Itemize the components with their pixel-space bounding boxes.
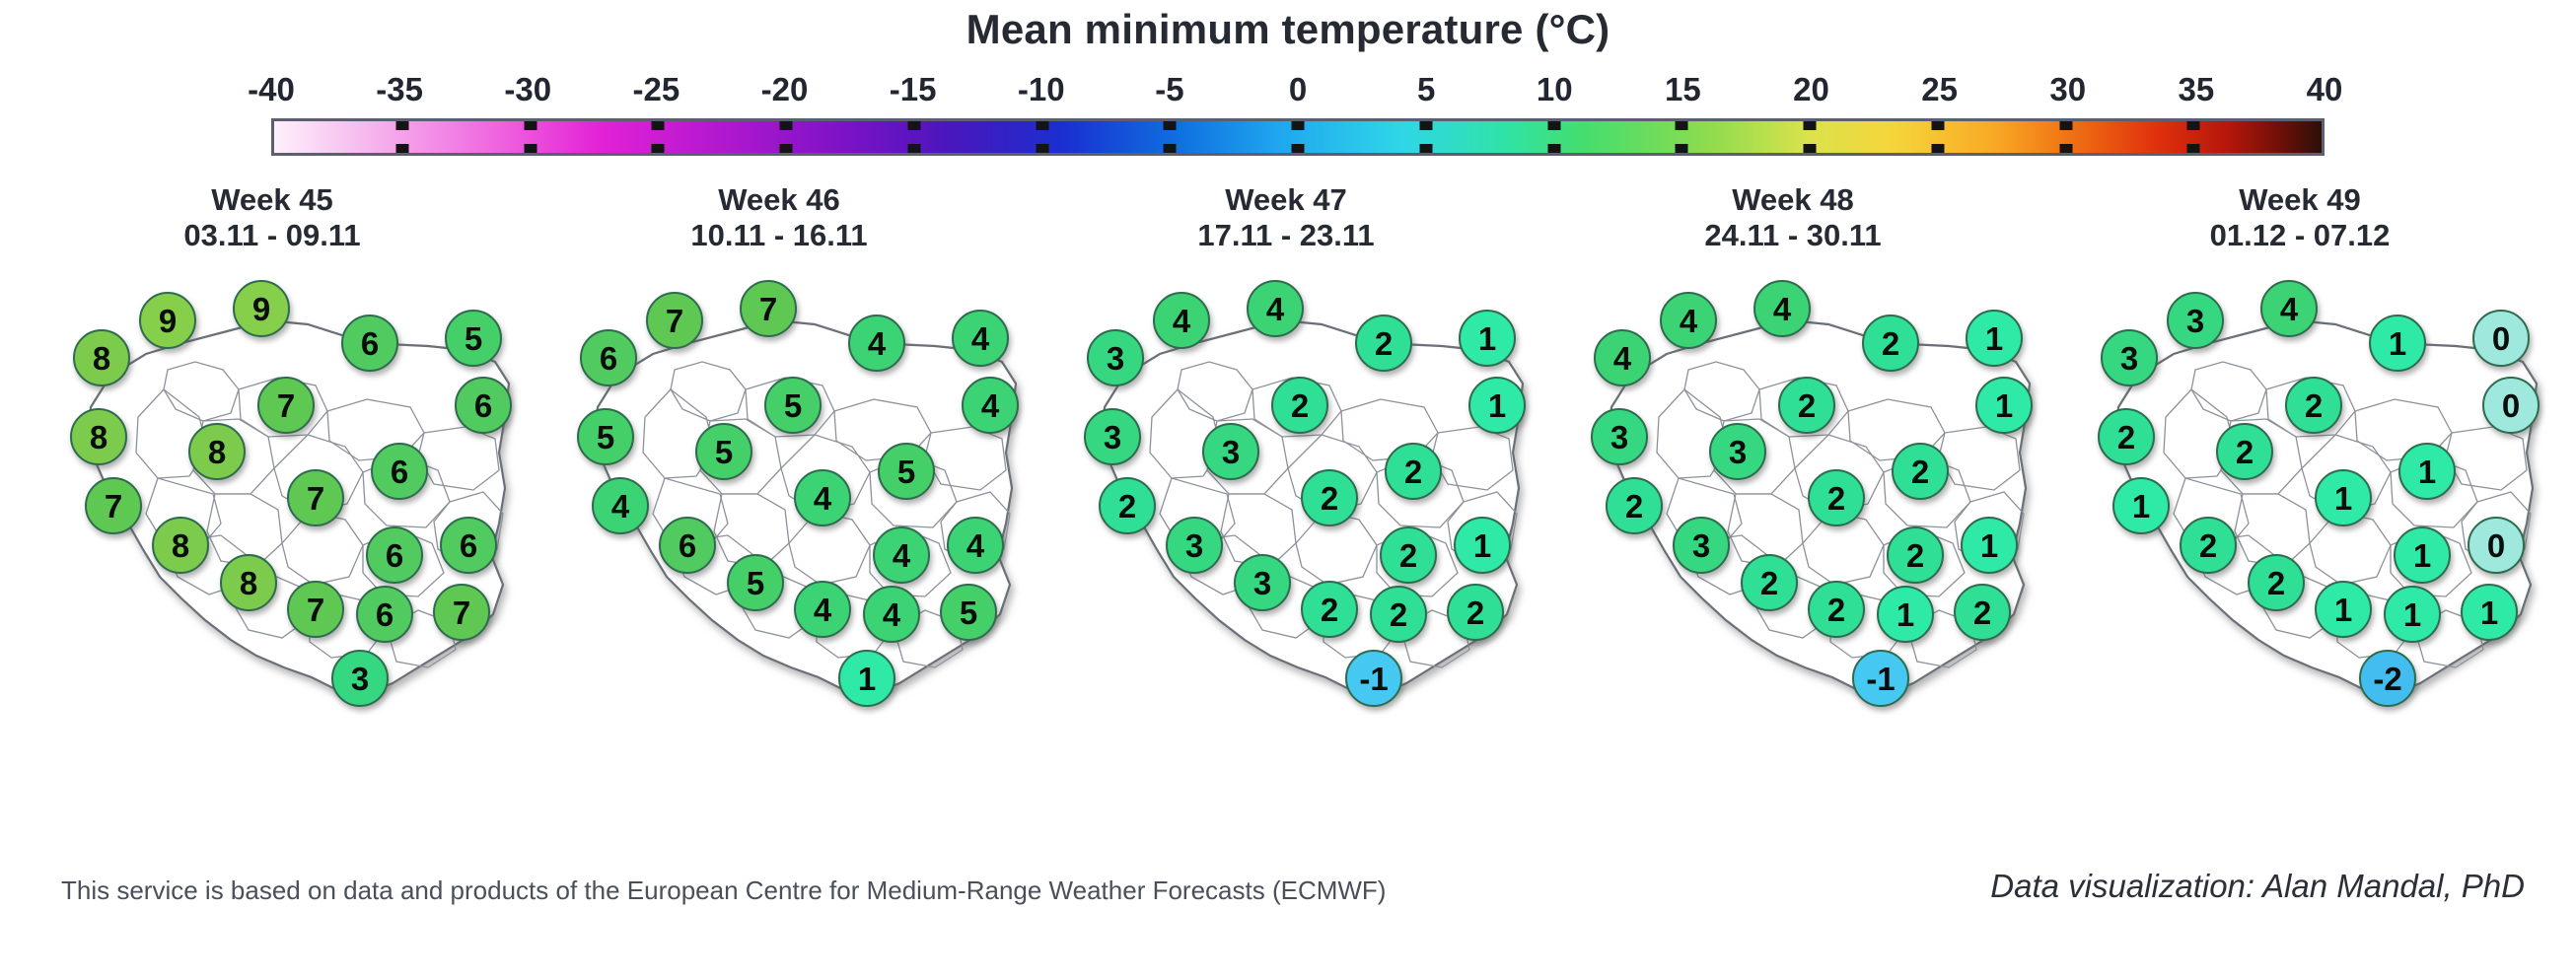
colorbar-tick-labels: -40-35-30-25-20-15-10-50510152025303540 — [271, 71, 2325, 114]
week-panel-3: Week 4717.11 - 23.113442113322223322122-… — [1034, 182, 1538, 863]
panel-date-range: 10.11 - 16.11 — [527, 218, 1032, 253]
panel-date-range: 17.11 - 23.11 — [1034, 218, 1538, 253]
temperature-marker-malopolska-s: 1 — [838, 650, 895, 707]
colorbar-segment-tick — [1292, 121, 1305, 130]
temperature-marker-slaskie: 1 — [2315, 581, 2372, 638]
colorbar-segment-tick — [1292, 144, 1305, 153]
temperature-marker-lubuskie-s: 2 — [1606, 477, 1663, 534]
temperature-marker-opolskie: 2 — [1741, 554, 1798, 611]
temperature-marker-lubuskie-s: 7 — [85, 477, 142, 534]
temperature-marker-podlaskie-n: 1 — [1966, 310, 2023, 367]
temperature-marker-warminsko-mazurskie: 4 — [848, 315, 905, 372]
temperature-marker-pomorskie-e: 4 — [1753, 280, 1811, 337]
colorbar-segment-tick — [1547, 144, 1560, 153]
temperature-marker-lodzkie: 2 — [1385, 443, 1442, 500]
temperature-marker-lubelskie: 4 — [873, 526, 930, 584]
temperature-marker-opolskie: 2 — [2248, 554, 2305, 611]
temperature-marker-wielkopolskie-w: 3 — [1202, 423, 1259, 480]
temperature-marker-pomorskie-w: 4 — [1660, 292, 1717, 349]
colorbar-tick-1: -35 — [376, 71, 423, 108]
panel-date-range: 24.11 - 30.11 — [1540, 218, 2045, 253]
colorbar-tick-7: -5 — [1155, 71, 1183, 108]
data-source-note: This service is based on data and produc… — [61, 875, 1386, 906]
page-title: Mean minimum temperature (°C) — [0, 6, 2576, 53]
colorbar-segment-tick — [1931, 121, 1944, 130]
temperature-marker-dolnoslaskie: 2 — [2180, 517, 2237, 574]
poland-map: 67744455544565444451 — [527, 259, 1032, 851]
poland-map: 3442113322223322122-1 — [1034, 259, 1538, 851]
panel-week-label: Week 46 — [527, 182, 1032, 218]
temperature-marker-mazowieckie: 2 — [1808, 469, 1865, 526]
temperature-marker-kujawsko-pomorskie: 2 — [2285, 377, 2342, 434]
temperature-marker-warminsko-mazurskie: 2 — [1862, 315, 1919, 372]
temperature-marker-slaskie: 7 — [287, 581, 344, 638]
temperature-marker-podlaskie-n: 5 — [445, 310, 502, 367]
temperature-marker-lubelskie: 2 — [1887, 526, 1944, 584]
temperature-marker-lodzkie: 6 — [371, 443, 428, 500]
temperature-marker-pomorskie-e: 4 — [2260, 280, 2318, 337]
colorbar-segment-tick — [2187, 121, 2200, 130]
temperature-marker-malopolska-s: 3 — [331, 650, 389, 707]
temperature-marker-zachodniopomorskie-n: 3 — [1087, 329, 1144, 386]
temperature-marker-dolnoslaskie: 8 — [152, 517, 209, 574]
temperature-marker-zachodniopomorskie-n: 6 — [580, 329, 637, 386]
week-panel-5: Week 4901.12 - 07.123341002221112211011-… — [2047, 182, 2552, 863]
poland-map: 3341002221112211011-2 — [2047, 259, 2552, 851]
temperature-marker-podkarpackie: 6 — [440, 517, 497, 574]
temperature-marker-dolnoslaskie: 6 — [659, 517, 716, 574]
colorbar: -40-35-30-25-20-15-10-50510152025303540 — [271, 71, 2325, 165]
temperature-marker-swietokrzyskie: 6 — [356, 586, 413, 643]
temperature-marker-zachodniopomorskie-n: 4 — [1594, 329, 1651, 386]
visualization-root: Mean minimum temperature (°C) -40-35-30-… — [0, 0, 2576, 980]
temperature-marker-slaskie: 2 — [1301, 581, 1358, 638]
colorbar-segment-tick — [1676, 121, 1688, 130]
temperature-marker-pomorskie-w: 9 — [139, 292, 196, 349]
colorbar-segment-tick — [1419, 144, 1432, 153]
colorbar-gradient — [271, 118, 2325, 156]
temperature-marker-swietokrzyskie: 1 — [2384, 586, 2441, 643]
temperature-marker-warminsko-mazurskie: 1 — [2369, 315, 2426, 372]
week-panel-2: Week 4610.11 - 16.1167744455544565444451 — [527, 182, 1032, 863]
temperature-marker-podkarpackie: 1 — [1454, 517, 1511, 574]
temperature-marker-podlaskie-s: 0 — [2482, 377, 2540, 434]
colorbar-segment-tick — [652, 144, 665, 153]
temperature-marker-pomorskie-w: 3 — [2167, 292, 2224, 349]
temperature-marker-pomorskie-e: 4 — [1247, 280, 1304, 337]
temperature-marker-lubuskie-n: 3 — [1591, 408, 1648, 465]
temperature-marker-wielkopolskie-w: 2 — [2216, 423, 2273, 480]
temperature-marker-lubuskie-n: 5 — [577, 408, 634, 465]
temperature-marker-mazowieckie: 4 — [794, 469, 851, 526]
temperature-marker-warminsko-mazurskie: 6 — [341, 315, 398, 372]
temperature-marker-lubelskie: 6 — [366, 526, 423, 584]
colorbar-segment-tick — [1036, 121, 1048, 130]
colorbar-segment-tick — [524, 121, 537, 130]
temperature-marker-swietokrzyskie: 2 — [1370, 586, 1427, 643]
temperature-marker-malopolska-s: -1 — [1345, 650, 1402, 707]
colorbar-tick-5: -15 — [890, 71, 937, 108]
temperature-marker-malopolska-e: 1 — [2461, 584, 2518, 641]
temperature-marker-lubuskie-n: 8 — [70, 408, 127, 465]
colorbar-segment-tick — [2059, 144, 2072, 153]
temperature-marker-podlaskie-s: 1 — [1468, 377, 1526, 434]
temperature-marker-lubuskie-n: 3 — [1084, 408, 1141, 465]
colorbar-tick-13: 25 — [1921, 71, 1958, 108]
colorbar-segment-tick — [1036, 144, 1048, 153]
temperature-marker-dolnoslaskie: 3 — [1166, 517, 1223, 574]
colorbar-tick-12: 20 — [1793, 71, 1829, 108]
poland-map: 89965688777688766673 — [20, 259, 525, 851]
temperature-marker-podlaskie-n: 4 — [952, 310, 1009, 367]
temperature-marker-zachodniopomorskie-n: 3 — [2101, 329, 2158, 386]
temperature-marker-lubelskie: 2 — [1380, 526, 1437, 584]
colorbar-segment-tick — [2059, 121, 2072, 130]
colorbar-tick-11: 15 — [1665, 71, 1701, 108]
temperature-marker-lubuskie-s: 4 — [592, 477, 649, 534]
temperature-marker-malopolska-e: 7 — [433, 584, 490, 641]
colorbar-segment-tick — [1676, 144, 1688, 153]
colorbar-segment-tick — [652, 121, 665, 130]
temperature-marker-podlaskie-n: 1 — [1459, 310, 1516, 367]
temperature-marker-podkarpackie: 1 — [1961, 517, 2018, 574]
temperature-marker-wielkopolskie-w: 3 — [1709, 423, 1766, 480]
colorbar-segment-tick — [395, 144, 408, 153]
poland-map: 4442113322223222112-1 — [1540, 259, 2045, 851]
temperature-marker-lodzkie: 2 — [1892, 443, 1949, 500]
colorbar-segment-tick — [1931, 144, 1944, 153]
temperature-marker-lubuskie-s: 1 — [2112, 477, 2170, 534]
temperature-marker-slaskie: 2 — [1808, 581, 1865, 638]
week-panel-1: Week 4503.11 - 09.1189965688777688766673 — [20, 182, 525, 863]
colorbar-segment-tick — [1804, 144, 1817, 153]
temperature-marker-wielkopolskie-w: 8 — [188, 423, 246, 480]
temperature-marker-malopolska-e: 2 — [1954, 584, 2011, 641]
temperature-marker-swietokrzyskie: 1 — [1877, 586, 1934, 643]
colorbar-segment-tick — [1164, 144, 1177, 153]
temperature-marker-malopolska-s: -1 — [1852, 650, 1909, 707]
temperature-marker-swietokrzyskie: 4 — [863, 586, 920, 643]
panel-date-range: 03.11 - 09.11 — [20, 218, 525, 253]
colorbar-segment-tick — [395, 121, 408, 130]
temperature-marker-pomorskie-e: 9 — [233, 280, 290, 337]
colorbar-tick-6: -10 — [1018, 71, 1065, 108]
colorbar-tick-15: 35 — [2179, 71, 2215, 108]
temperature-marker-lodzkie: 5 — [878, 443, 935, 500]
colorbar-segment-tick — [907, 144, 920, 153]
temperature-marker-podlaskie-s: 6 — [455, 377, 512, 434]
temperature-marker-warminsko-mazurskie: 2 — [1355, 315, 1412, 372]
temperature-marker-pomorskie-e: 7 — [740, 280, 797, 337]
temperature-marker-podkarpackie: 4 — [947, 517, 1004, 574]
temperature-marker-pomorskie-w: 4 — [1153, 292, 1210, 349]
colorbar-tick-3: -25 — [633, 71, 680, 108]
panel-week-label: Week 45 — [20, 182, 525, 218]
colorbar-tick-14: 30 — [2049, 71, 2086, 108]
temperature-marker-opolskie: 5 — [727, 554, 784, 611]
colorbar-tick-16: 40 — [2307, 71, 2343, 108]
colorbar-tick-10: 10 — [1537, 71, 1573, 108]
panel-date-range: 01.12 - 07.12 — [2047, 218, 2552, 253]
panel-week-label: Week 48 — [1540, 182, 2045, 218]
temperature-marker-lubelskie: 1 — [2394, 526, 2451, 584]
colorbar-segment-tick — [780, 121, 793, 130]
week-panels: Week 4503.11 - 09.1189965688777688766673… — [0, 182, 2576, 863]
colorbar-segment-tick — [2187, 144, 2200, 153]
temperature-marker-mazowieckie: 1 — [2315, 469, 2372, 526]
temperature-marker-kujawsko-pomorskie: 2 — [1271, 377, 1328, 434]
temperature-marker-malopolska-e: 2 — [1447, 584, 1504, 641]
panel-week-label: Week 49 — [2047, 182, 2552, 218]
temperature-marker-kujawsko-pomorskie: 2 — [1778, 377, 1835, 434]
colorbar-tick-9: 5 — [1417, 71, 1435, 108]
temperature-marker-lubuskie-n: 2 — [2098, 408, 2155, 465]
colorbar-segment-tick — [907, 121, 920, 130]
week-panel-4: Week 4824.11 - 30.114442113322223222112-… — [1540, 182, 2045, 863]
colorbar-segment-tick — [1804, 121, 1817, 130]
colorbar-segment-tick — [780, 144, 793, 153]
colorbar-segment-tick — [1547, 121, 1560, 130]
temperature-marker-malopolska-e: 5 — [940, 584, 997, 641]
temperature-marker-lubuskie-s: 2 — [1099, 477, 1156, 534]
panel-week-label: Week 47 — [1034, 182, 1538, 218]
attribution-note: Data visualization: Alan Mandal, PhD — [1990, 868, 2525, 905]
colorbar-tick-4: -20 — [761, 71, 809, 108]
temperature-marker-podlaskie-s: 4 — [962, 377, 1019, 434]
temperature-marker-malopolska-s: -2 — [2359, 650, 2416, 707]
temperature-marker-podlaskie-s: 1 — [1975, 377, 2033, 434]
temperature-marker-kujawsko-pomorskie: 5 — [764, 377, 822, 434]
temperature-marker-dolnoslaskie: 3 — [1673, 517, 1730, 574]
colorbar-segment-tick — [524, 144, 537, 153]
colorbar-tick-8: 0 — [1289, 71, 1307, 108]
temperature-marker-pomorskie-w: 7 — [646, 292, 703, 349]
temperature-marker-lodzkie: 1 — [2398, 443, 2456, 500]
temperature-marker-wielkopolskie-w: 5 — [695, 423, 752, 480]
temperature-marker-mazowieckie: 2 — [1301, 469, 1358, 526]
temperature-marker-mazowieckie: 7 — [287, 469, 344, 526]
colorbar-tick-2: -30 — [504, 71, 551, 108]
temperature-marker-kujawsko-pomorskie: 7 — [257, 377, 315, 434]
temperature-marker-slaskie: 4 — [794, 581, 851, 638]
temperature-marker-podkarpackie: 0 — [2468, 517, 2525, 574]
colorbar-segment-tick — [1419, 121, 1432, 130]
colorbar-tick-0: -40 — [248, 71, 295, 108]
temperature-marker-podlaskie-n: 0 — [2472, 310, 2530, 367]
temperature-marker-opolskie: 8 — [220, 554, 277, 611]
temperature-marker-zachodniopomorskie-n: 8 — [73, 329, 130, 386]
temperature-marker-opolskie: 3 — [1234, 554, 1291, 611]
colorbar-segment-tick — [1164, 121, 1177, 130]
